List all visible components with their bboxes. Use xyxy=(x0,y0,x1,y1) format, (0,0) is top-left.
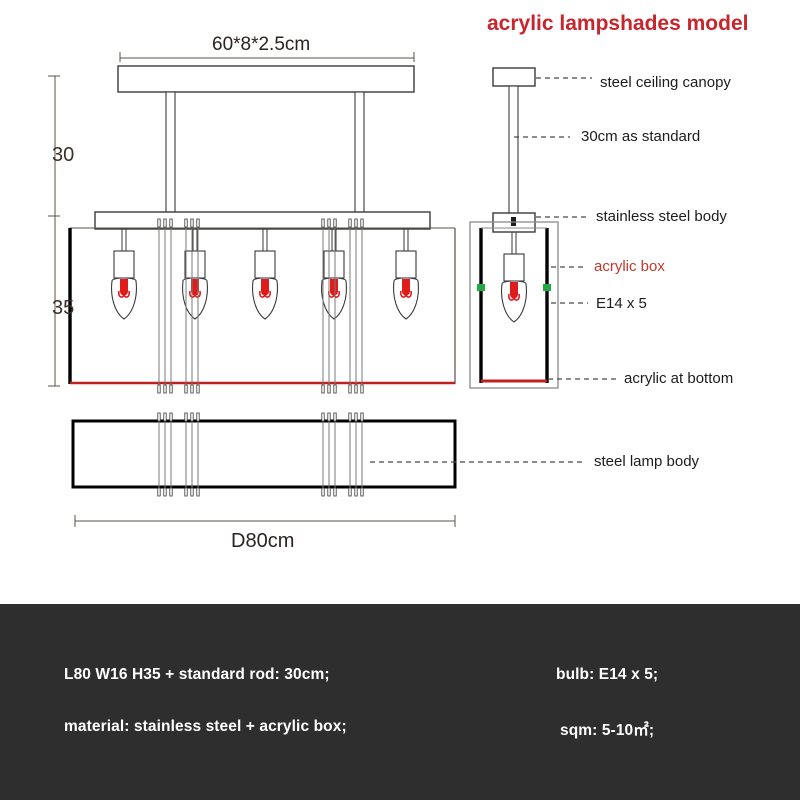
dimension-label-overall-length: D80cm xyxy=(231,530,294,553)
dimension-label-body-height: 35 xyxy=(52,297,74,320)
detail-rod xyxy=(509,86,518,214)
spec-row-2-left: material: stainless steel + acrylic box; xyxy=(64,718,347,736)
bulb-5 xyxy=(394,229,419,319)
detail-bulb xyxy=(502,232,527,322)
callout-steel-ceiling-canopy: steel ceiling canopy xyxy=(600,74,731,91)
dimension-label-canopy-plate: 60*8*2.5cm xyxy=(212,34,310,56)
bulb-3 xyxy=(253,229,278,319)
marker-left-green xyxy=(477,284,485,291)
spec-row-2-right: sqm: 5-10㎡; xyxy=(560,718,654,740)
bulb-1 xyxy=(112,229,137,319)
callout-e14-bulb: E14 x 5 xyxy=(596,295,647,312)
bulb-4 xyxy=(322,229,347,319)
callout-acrylic-at-bottom: acrylic at bottom xyxy=(624,370,733,387)
diagram-page: acrylic lampshades model xyxy=(0,0,800,800)
spec-row-1-right: bulb: E14 x 5; xyxy=(556,666,658,684)
ceiling-canopy-plate xyxy=(118,66,414,92)
dimension-vertical xyxy=(48,76,60,386)
callout-stainless-steel-body: stainless steel body xyxy=(596,208,727,225)
dimension-label-rod-height: 30 xyxy=(52,144,74,167)
dimension-overall-length xyxy=(75,515,455,527)
detail-ceiling-canopy xyxy=(493,68,535,86)
callout-acrylic-box: acrylic box xyxy=(594,258,665,275)
spec-panel: L80 W16 H35 + standard rod: 30cm; bulb: … xyxy=(0,604,800,800)
callout-steel-lamp-body: steel lamp body xyxy=(594,453,699,470)
rod-cluster-1 xyxy=(158,219,172,393)
marker-right-green xyxy=(543,284,551,291)
bulb-group-front xyxy=(112,229,419,319)
suspension-rods xyxy=(166,92,364,213)
lamp-body-plan-view xyxy=(73,413,455,496)
spec-row-1-left: L80 W16 H35 + standard rod: 30cm; xyxy=(64,666,330,684)
stainless-steel-body-bar xyxy=(95,212,430,229)
side-detail-view xyxy=(470,68,558,388)
rod-cluster-4 xyxy=(349,219,363,393)
callout-standard-rod: 30cm as standard xyxy=(581,128,700,145)
